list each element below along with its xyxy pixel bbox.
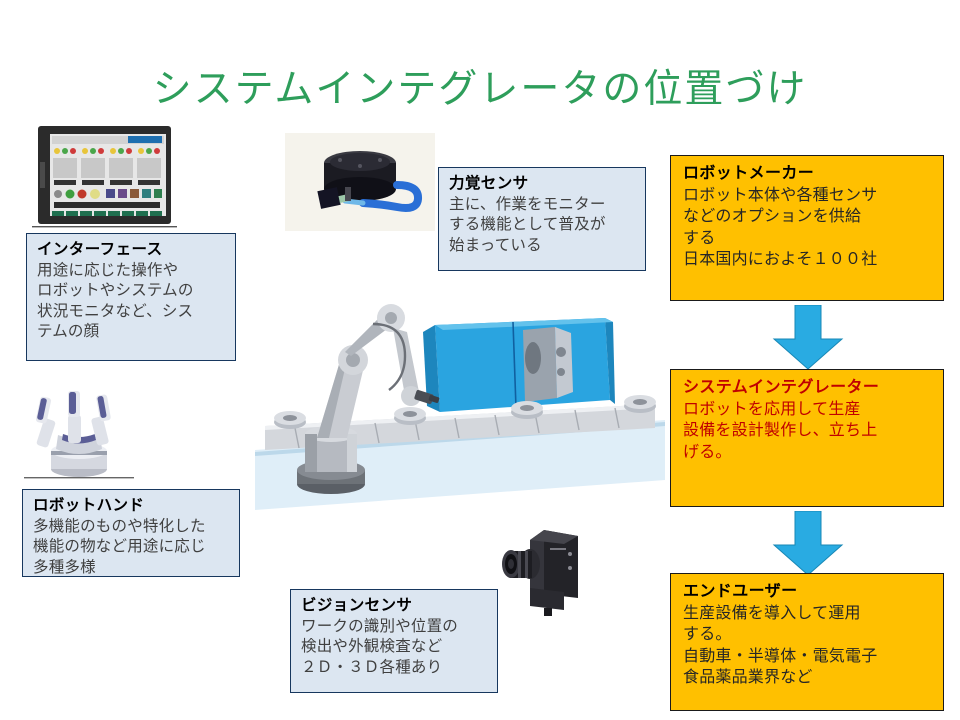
chain-box-end-user-body: 生産設備を導入して運用 する。 自動車・半導体・電気電子 食品薬品業界など <box>683 603 937 689</box>
chain-box-end-user: エンドユーザー 生産設備を導入して運用 する。 自動車・半導体・電気電子 食品薬… <box>670 573 944 711</box>
chain-box-system-integrator: システムインテグレーター ロボットを応用して生産 設備を設計製作し、立ち上 げる… <box>670 369 944 507</box>
callout-force-sensor: 力覚センサ 主に、作業をモニター する機能として普及が 始まっている <box>438 167 646 271</box>
hmi-touch-panel-photo <box>32 122 177 230</box>
chain-box-end-user-heading: エンドユーザー <box>683 581 937 603</box>
callout-robot-hand-body: 多機能のものや特化した 機能の物など用途に応じ 多種多様 <box>33 517 231 579</box>
callout-force-sensor-heading: 力覚センサ <box>449 174 637 195</box>
chain-box-robot-maker: ロボットメーカー ロボット本体や各種センサ などのオプションを供給 する 日本国… <box>670 155 944 301</box>
callout-interface-body: 用途に応じた操作や ロボットやシステムの 状況モニタなど、シス テムの顔 <box>37 261 227 343</box>
callout-interface: インターフェース 用途に応じた操作や ロボットやシステムの 状況モニタなど、シス… <box>26 233 236 361</box>
callout-vision-sensor-heading: ビジョンセンサ <box>301 596 489 617</box>
robot-gripper-photo <box>24 383 134 481</box>
callout-robot-hand: ロボットハンド 多機能のものや特化した 機能の物など用途に応じ 多種多様 <box>22 489 240 577</box>
callout-force-sensor-body: 主に、作業をモニター する機能として普及が 始まっている <box>449 195 637 257</box>
callout-vision-sensor: ビジョンセンサ ワークの識別や位置の 検出や外観検査など ２Ｄ・３Ｄ各種あり <box>290 589 498 693</box>
callout-robot-hand-heading: ロボットハンド <box>33 496 231 517</box>
chain-box-robot-maker-body: ロボット本体や各種センサ などのオプションを供給 する 日本国内におよそ１００社 <box>683 185 937 271</box>
force-sensor-photo <box>285 133 435 231</box>
page-title: システムインテグレータの位置づけ <box>0 58 960 114</box>
callout-interface-heading: インターフェース <box>37 240 227 261</box>
chain-box-system-integrator-body: ロボットを応用して生産 設備を設計製作し、立ち上 げる。 <box>683 399 937 464</box>
vision-camera-photo <box>500 518 600 618</box>
arrow-integrator-to-enduser-icon <box>770 511 846 577</box>
chain-box-system-integrator-heading: システムインテグレーター <box>683 377 937 399</box>
chain-box-robot-maker-heading: ロボットメーカー <box>683 163 937 185</box>
arrow-maker-to-integrator-icon <box>770 305 846 371</box>
robot-cell-illustration <box>255 300 665 550</box>
callout-vision-sensor-body: ワークの識別や位置の 検出や外観検査など ２Ｄ・３Ｄ各種あり <box>301 617 489 679</box>
